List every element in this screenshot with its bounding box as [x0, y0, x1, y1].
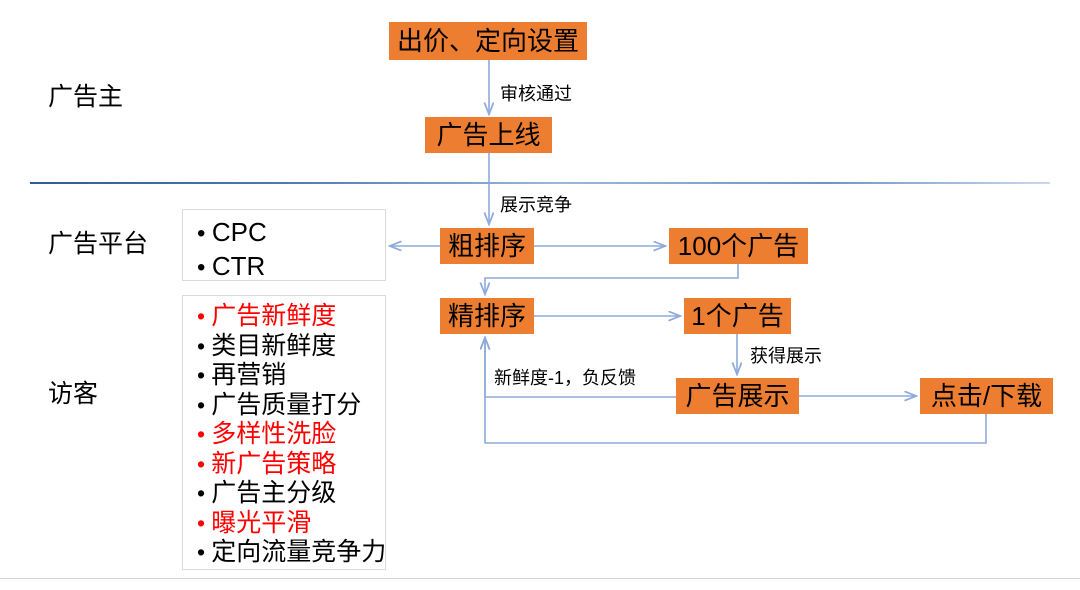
node-coarse-rank[interactable]: 粗排序 [440, 228, 534, 264]
edge-label-freshness-feedback: 新鲜度-1，负反馈 [492, 369, 638, 389]
node-ad-online[interactable]: 广告上线 [425, 117, 552, 153]
list-item: 曝光平滑 [197, 509, 375, 539]
list-item: 广告质量打分 [197, 391, 375, 421]
list-item: 定向流量竞争力 [197, 538, 375, 568]
lane-label-advertiser: 广告主 [48, 84, 123, 112]
platform-metrics-box: CPC CTR [182, 209, 386, 281]
footer-divider [0, 578, 1080, 579]
node-fine-rank[interactable]: 精排序 [440, 298, 534, 334]
diagram-canvas: 广告主 广告平台 访客 出价、定向设置 广告上线 粗排序 100个广告 精排序 … [0, 0, 1080, 590]
list-item: CPC [197, 216, 375, 250]
list-item: CTR [197, 250, 375, 284]
list-item: 再营销 [197, 361, 375, 391]
node-click-download[interactable]: 点击/下载 [920, 378, 1053, 414]
node-ad-display[interactable]: 广告展示 [676, 378, 799, 414]
edge-label-review-passed: 审核通过 [498, 85, 574, 105]
list-item: 多样性洗脸 [197, 420, 375, 450]
node-bid-setting[interactable]: 出价、定向设置 [389, 22, 587, 60]
lane-label-platform: 广告平台 [48, 231, 148, 259]
list-item: 广告新鲜度 [197, 302, 375, 332]
lane-label-visitor: 访客 [48, 381, 98, 409]
node-100-ads[interactable]: 100个广告 [669, 228, 808, 264]
list-item: 类目新鲜度 [197, 332, 375, 362]
list-item: 新广告策略 [197, 450, 375, 480]
visitor-factors-box: 广告新鲜度 类目新鲜度 再营销 广告质量打分 多样性洗脸 新广告策略 广告主分级… [182, 295, 386, 570]
lane-divider-advertiser-platform [30, 182, 1050, 184]
node-1-ad[interactable]: 1个广告 [684, 298, 791, 334]
wire-100ads-to-fine [485, 264, 738, 294]
edge-label-display-competition: 展示竞争 [498, 196, 574, 216]
list-item: 广告主分级 [197, 479, 375, 509]
edge-label-gain-display: 获得展示 [748, 347, 824, 367]
